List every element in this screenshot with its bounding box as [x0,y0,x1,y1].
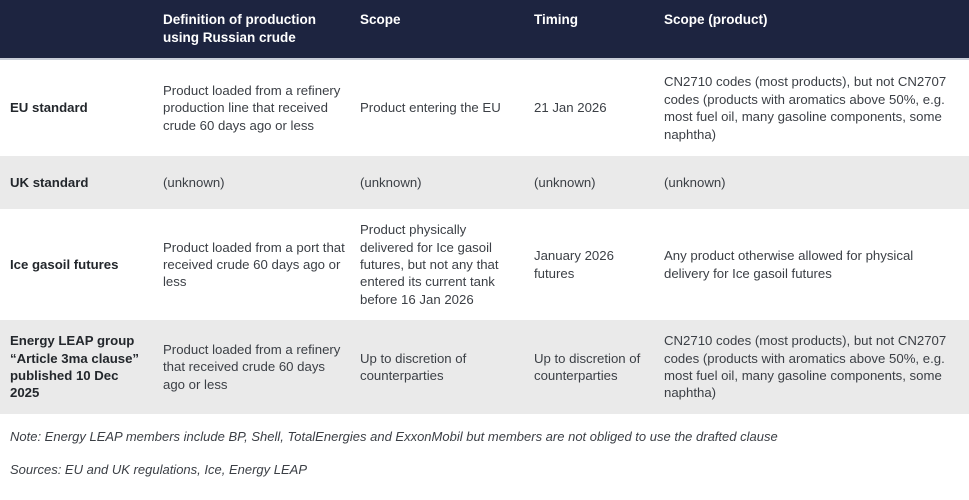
cell-timing: Up to discretion of counterparties [534,320,664,414]
table-header: Definition of production using Russian c… [0,0,969,59]
column-header-scope-product: Scope (product) [664,0,969,59]
cell-definition: (unknown) [163,156,360,209]
cell-standard: Energy LEAP group “Article 3ma clause” p… [0,320,163,414]
cell-scope-product: (unknown) [664,156,969,209]
column-header-scope: Scope [360,0,534,59]
table-row: Energy LEAP group “Article 3ma clause” p… [0,320,969,414]
cell-scope-product: CN2710 codes (most products), but not CN… [664,320,969,414]
table-footer: Note: Energy LEAP members include BP, Sh… [0,414,969,480]
cell-standard: EU standard [0,59,163,156]
footnote-note: Note: Energy LEAP members include BP, Sh… [10,428,959,446]
table-row: UK standard (unknown) (unknown) (unknown… [0,156,969,209]
cell-definition: Product loaded from a refinery that rece… [163,320,360,414]
cell-scope-product: Any product otherwise allowed for physic… [664,209,969,320]
cell-scope: (unknown) [360,156,534,209]
table-header-row: Definition of production using Russian c… [0,0,969,59]
cell-timing: January 2026 futures [534,209,664,320]
table-row: EU standard Product loaded from a refine… [0,59,969,156]
cell-standard: Ice gasoil futures [0,209,163,320]
cell-scope: Product entering the EU [360,59,534,156]
cell-scope: Product physically delivered for Ice gas… [360,209,534,320]
table-row: Ice gasoil futures Product loaded from a… [0,209,969,320]
cell-definition: Product loaded from a port that received… [163,209,360,320]
cell-scope-product: CN2710 codes (most products), but not CN… [664,59,969,156]
cell-standard: UK standard [0,156,163,209]
cell-scope: Up to discretion of counterparties [360,320,534,414]
comparison-table-container: Definition of production using Russian c… [0,0,969,414]
column-header-standard [0,0,163,59]
cell-timing: 21 Jan 2026 [534,59,664,156]
column-header-definition: Definition of production using Russian c… [163,0,360,59]
column-header-timing: Timing [534,0,664,59]
table-body: EU standard Product loaded from a refine… [0,59,969,414]
russian-crude-standards-table: Definition of production using Russian c… [0,0,969,414]
footnote-sources: Sources: EU and UK regulations, Ice, Ene… [10,461,959,479]
cell-definition: Product loaded from a refinery productio… [163,59,360,156]
cell-timing: (unknown) [534,156,664,209]
